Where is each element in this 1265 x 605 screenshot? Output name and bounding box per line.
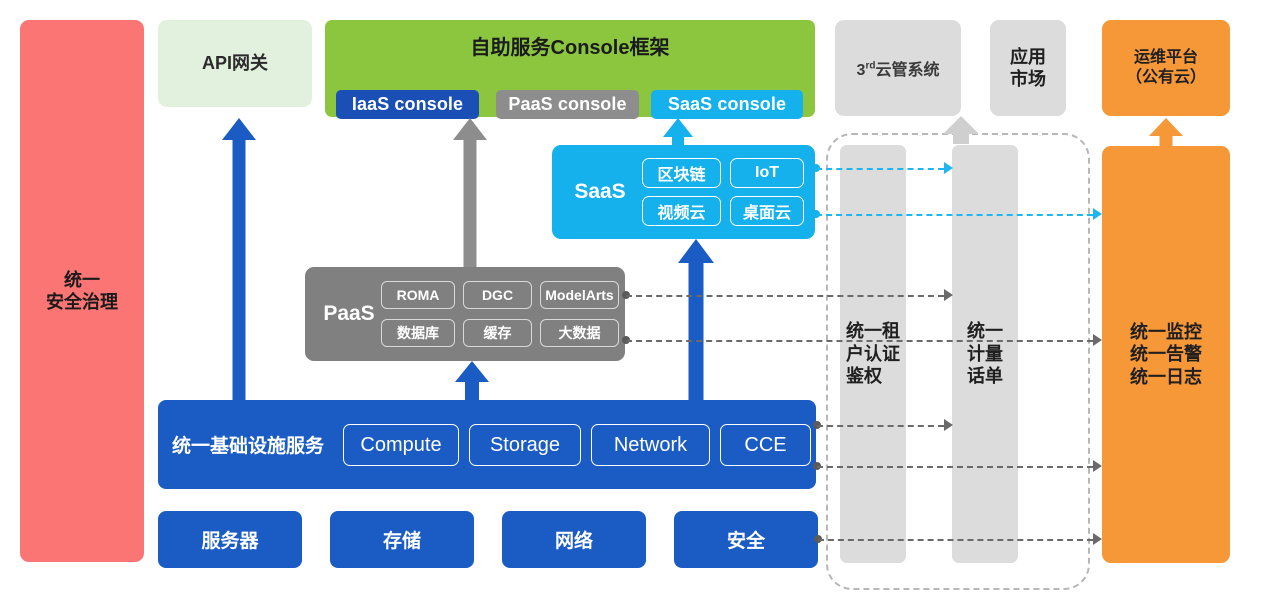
third-party-cloud-management-box: 3rd云管系统 [835, 20, 961, 116]
infra-chip-storage[interactable]: Storage [469, 424, 581, 466]
arrow-ops-core-to-ops-platform [1149, 118, 1183, 146]
infra-chip-compute[interactable]: Compute [343, 424, 459, 466]
self-service-console-frame: 自助服务Console框架 IaaS console PaaS console … [325, 20, 815, 117]
connector-paas-to-ops [626, 340, 1093, 342]
unified-metering-billing-column: 统一 计量 话单 [952, 145, 1018, 563]
unified-tenant-auth-column: 统一租 户认证 鉴权 [840, 145, 906, 563]
iaas-console-chip[interactable]: IaaS console [336, 90, 479, 119]
ops-core-panel: 统一监控 统一告警 统一日志 [1102, 146, 1230, 563]
saas-block-label: SaaS [564, 145, 636, 239]
arrow-infra-to-saas [678, 239, 714, 400]
unified-metering-billing-label: 统一 计量 话单 [967, 320, 1003, 388]
unified-tenant-auth-label: 统一租 户认证 鉴权 [846, 320, 900, 388]
connector-paas-to-auth [626, 295, 944, 297]
hardware-tile-server[interactable]: 服务器 [158, 511, 302, 568]
arrow-saas-to-console [663, 118, 693, 145]
hardware-tile-security[interactable]: 安全 [674, 511, 818, 568]
hardware-tile-storage[interactable]: 存储 [330, 511, 474, 568]
saas-chip-blockchain[interactable]: 区块链 [642, 158, 721, 188]
connector-arrowhead-hardware-ops [1093, 533, 1102, 545]
paas-block: PaaS ROMA DGC ModelArts 数据库 缓存 大数据 [305, 267, 625, 361]
unified-infrastructure-band: 统一基础设施服务 Compute Storage Network CCE [158, 400, 816, 489]
arrow-shared-to-third-party [943, 116, 979, 144]
saas-chip-video-cloud[interactable]: 视频云 [642, 196, 721, 226]
console-frame-title: 自助服务Console框架 [325, 31, 815, 60]
paas-chip-modelarts[interactable]: ModelArts [540, 281, 619, 309]
hardware-tile-network[interactable]: 网络 [502, 511, 646, 568]
paas-chip-database[interactable]: 数据库 [381, 319, 455, 347]
paas-chip-dgc[interactable]: DGC [463, 281, 532, 309]
paas-chip-bigdata[interactable]: 大数据 [540, 319, 619, 347]
saas-block: SaaS 区块链 IoT 视频云 桌面云 [552, 145, 815, 239]
connector-arrowhead-infra-ops [1093, 460, 1102, 472]
paas-chip-roma[interactable]: ROMA [381, 281, 455, 309]
connector-arrowhead-paas-ops [1093, 334, 1102, 346]
api-gateway-box: API网关 [158, 20, 312, 107]
paas-chip-cache[interactable]: 缓存 [463, 319, 532, 347]
arrow-infra-to-api-gateway [222, 118, 256, 400]
saas-chip-iot[interactable]: IoT [730, 158, 804, 188]
paas-console-chip[interactable]: PaaS console [496, 90, 639, 119]
connector-saas-to-auth [816, 168, 944, 170]
security-panel-label: 统一 安全治理 [46, 269, 118, 314]
arrow-paas-to-console [453, 118, 487, 267]
infra-chip-network[interactable]: Network [591, 424, 710, 466]
paas-block-label: PaaS [313, 267, 385, 361]
ops-platform-label: 运维平台 （公有云） [1126, 48, 1206, 88]
architecture-diagram: 统一 安全治理 API网关 自助服务Console框架 IaaS console… [0, 0, 1265, 605]
connector-infra-to-ops [817, 466, 1093, 468]
ops-core-label: 统一监控 统一告警 统一日志 [1130, 321, 1202, 389]
api-gateway-label: API网关 [202, 52, 268, 75]
connector-saas-to-ops [816, 214, 1093, 216]
ops-platform-box: 运维平台 （公有云） [1102, 20, 1230, 116]
connector-arrowhead-paas-auth [944, 289, 953, 301]
app-market-box: 应用 市场 [990, 20, 1066, 116]
connector-infra-to-auth [817, 425, 944, 427]
connector-arrowhead-infra-auth [944, 419, 953, 431]
arrow-infra-to-paas [455, 361, 489, 400]
unified-security-governance-panel: 统一 安全治理 [20, 20, 144, 562]
connector-arrowhead-saas-ops [1093, 208, 1102, 220]
saas-chip-desktop-cloud[interactable]: 桌面云 [730, 196, 804, 226]
app-market-label: 应用 市场 [1010, 46, 1046, 91]
connector-hardware-to-ops [818, 539, 1093, 541]
connector-arrowhead-saas-auth [944, 162, 953, 174]
unified-infrastructure-label: 统一基础设施服务 [172, 400, 324, 489]
third-party-label: 3rd云管系统 [857, 56, 940, 80]
saas-console-chip[interactable]: SaaS console [651, 90, 803, 119]
infra-chip-cce[interactable]: CCE [720, 424, 811, 466]
